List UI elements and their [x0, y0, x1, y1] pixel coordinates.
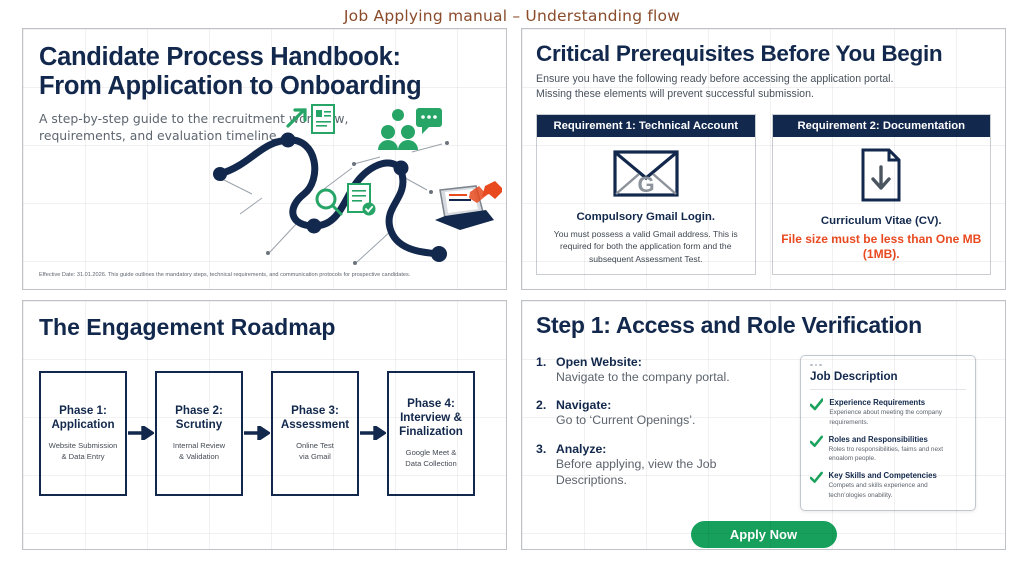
job-description-item-1: Experience Requirements Experience about…: [810, 398, 966, 427]
apply-now-button[interactable]: Apply Now: [691, 521, 837, 548]
phase-1-name: Phase 1: Application: [51, 404, 114, 432]
panel-critical-prerequisites: Critical Prerequisites Before You Begin …: [521, 28, 1006, 290]
document-title: Job Applying manual – Understanding flow: [0, 0, 1024, 28]
phase-flow: Phase 1: Application Website Submission …: [39, 371, 490, 496]
requirement-2-header: Requirement 2: Documentation: [773, 115, 991, 137]
chat-bubble-icon: [416, 108, 442, 134]
panel2-subtitle-line2: Missing these elements will prevent succ…: [536, 88, 814, 100]
requirement-2-caption: Curriculum Vitae (CV).: [781, 215, 983, 227]
phase-card-2: Phase 2: Scrutiny Internal Review & Vali…: [155, 371, 243, 496]
requirement-card-1: Requirement 1: Technical Account G Compu…: [536, 114, 756, 275]
phase-3-desc-line1: Online Test: [296, 441, 334, 450]
job-item-2-heading: Roles and Responsibilities: [829, 435, 966, 444]
phase-3-desc: Online Test via Gmail: [296, 441, 334, 462]
people-group-icon: [378, 109, 418, 150]
step-item-1: 1. Open Website: Navigate to the company…: [536, 355, 788, 386]
step-1-desc: Navigate to the company portal.: [556, 370, 730, 386]
svg-text:G: G: [637, 172, 654, 197]
panel-step-1-access: Step 1: Access and Role Verification 1. …: [521, 300, 1006, 550]
phase-4-label: Phase 4:: [407, 397, 455, 410]
document-check-icon: [348, 184, 376, 216]
phase-1-label: Phase 1:: [59, 404, 107, 417]
flow-arrow-3: [359, 426, 387, 440]
step-list: 1. Open Website: Navigate to the company…: [536, 355, 788, 511]
step-3-title: Analyze:: [556, 442, 788, 456]
phase-1-desc-line1: Website Submission: [49, 441, 118, 450]
handshake-icon: [469, 181, 502, 203]
apply-button-row: Apply Now: [536, 513, 991, 548]
phase-1-label2: Application: [51, 418, 114, 431]
phase-3-label2: Assessment: [281, 418, 349, 431]
panel-engagement-roadmap: The Engagement Roadmap Phase 1: Applicat…: [22, 300, 507, 550]
phase-card-4: Phase 4: Interview & Finalization Google…: [387, 371, 475, 496]
panel1-title-line2: From Application to Onboarding: [39, 72, 421, 100]
phase-2-desc: Internal Review & Validation: [173, 441, 225, 462]
path-node-start: [213, 167, 227, 181]
job-item-3-heading: Key Skills and Competencies: [829, 471, 966, 480]
recruitment-journey-illustration: [202, 102, 502, 267]
phase-2-desc-line2: & Validation: [179, 452, 219, 461]
panel4-body: 1. Open Website: Navigate to the company…: [536, 355, 991, 511]
window-dots: [810, 364, 966, 367]
panel2-title: Critical Prerequisites Before You Begin: [536, 41, 991, 66]
requirement-1-text: You must possess a valid Gmail address. …: [545, 228, 747, 265]
phase-4-name: Phase 4: Interview & Finalization: [392, 397, 470, 439]
step-3-number: 3.: [536, 442, 550, 488]
check-icon: [810, 435, 823, 448]
panel4-title: Step 1: Access and Role Verification: [536, 313, 991, 339]
job-item-3-text: Compets and skills experience and techn’…: [829, 481, 966, 500]
step-2-number: 2.: [536, 398, 550, 429]
panel1-footnote: Effective Date: 31.01.2026. This guide o…: [39, 271, 478, 279]
panel-grid: Candidate Process Handbook: From Applica…: [0, 28, 1024, 568]
panel2-subtitle: Ensure you have the following ready befo…: [536, 72, 991, 102]
step-1-number: 1.: [536, 355, 550, 386]
phase-4-desc: Google Meet & Data Collection: [405, 448, 457, 469]
step-2-title: Navigate:: [556, 398, 695, 412]
phase-2-name: Phase 2: Scrutiny: [175, 404, 223, 432]
flow-arrow-1: [127, 426, 155, 440]
phase-3-label: Phase 3:: [291, 404, 339, 417]
panel1-title: Candidate Process Handbook: From Applica…: [39, 43, 490, 100]
panel-candidate-process-handbook: Candidate Process Handbook: From Applica…: [22, 28, 507, 290]
requirement-card-2: Requirement 2: Documentation Curriculum …: [772, 114, 992, 275]
phase-4-desc-line1: Google Meet &: [406, 448, 457, 457]
phase-2-label2: Scrutiny: [176, 418, 222, 431]
job-description-title: Job Description: [810, 370, 966, 390]
job-description-card: Job Description Experience Requirements …: [800, 355, 976, 511]
job-description-item-2: Roles and Responsibilities Roles tro res…: [810, 435, 966, 464]
phase-2-desc-line1: Internal Review: [173, 441, 225, 450]
phase-card-3: Phase 3: Assessment Online Test via Gmai…: [271, 371, 359, 496]
magnifier-icon: [317, 190, 341, 214]
requirement-2-warning: File size must be less than One MB (1MB)…: [781, 232, 983, 262]
panel2-subtitle-line1: Ensure you have the following ready befo…: [536, 73, 893, 85]
phase-card-1: Phase 1: Application Website Submission …: [39, 371, 127, 496]
requirement-1-body: G Compulsory Gmail Login. You must posse…: [537, 137, 755, 274]
job-description-item-3: Key Skills and Competencies Compets and …: [810, 471, 966, 500]
panel1-title-line1: Candidate Process Handbook:: [39, 43, 401, 71]
phase-3-desc-line2: via Gmail: [299, 452, 331, 461]
phase-2-label: Phase 2:: [175, 404, 223, 417]
phase-3-name: Phase 3: Assessment: [281, 404, 349, 432]
flow-arrow-2: [243, 426, 271, 440]
step-item-3: 3. Analyze: Before applying, view the Jo…: [536, 442, 788, 488]
phase-4-label2: Interview & Finalization: [399, 411, 463, 438]
job-item-1-text: Experience about meeting the company req…: [829, 408, 966, 427]
requirement-1-caption: Compulsory Gmail Login.: [545, 211, 747, 223]
step-2-desc: Go to ‘Current Openings’.: [556, 413, 695, 429]
gmail-envelope-icon: G: [611, 147, 681, 199]
job-item-2-text: Roles tro responsibilities, faims and ne…: [829, 445, 966, 464]
step-3-desc: Before applying, view the Job Descriptio…: [556, 457, 788, 488]
requirements-row: Requirement 1: Technical Account G Compu…: [536, 114, 991, 275]
document-download-icon: [858, 147, 904, 203]
job-item-1-heading: Experience Requirements: [829, 398, 966, 407]
phase-4-desc-line2: Data Collection: [405, 459, 457, 468]
requirement-1-header: Requirement 1: Technical Account: [537, 115, 755, 137]
requirement-2-body: Curriculum Vitae (CV). File size must be…: [773, 137, 991, 271]
check-icon: [810, 471, 823, 484]
panel3-title: The Engagement Roadmap: [39, 315, 490, 341]
phase-1-desc-line2: & Data Entry: [61, 452, 104, 461]
id-card-icon: [312, 105, 334, 133]
check-icon: [810, 398, 823, 411]
step-item-2: 2. Navigate: Go to ‘Current Openings’.: [536, 398, 788, 429]
step-1-title: Open Website:: [556, 355, 730, 369]
phase-1-desc: Website Submission & Data Entry: [49, 441, 118, 462]
